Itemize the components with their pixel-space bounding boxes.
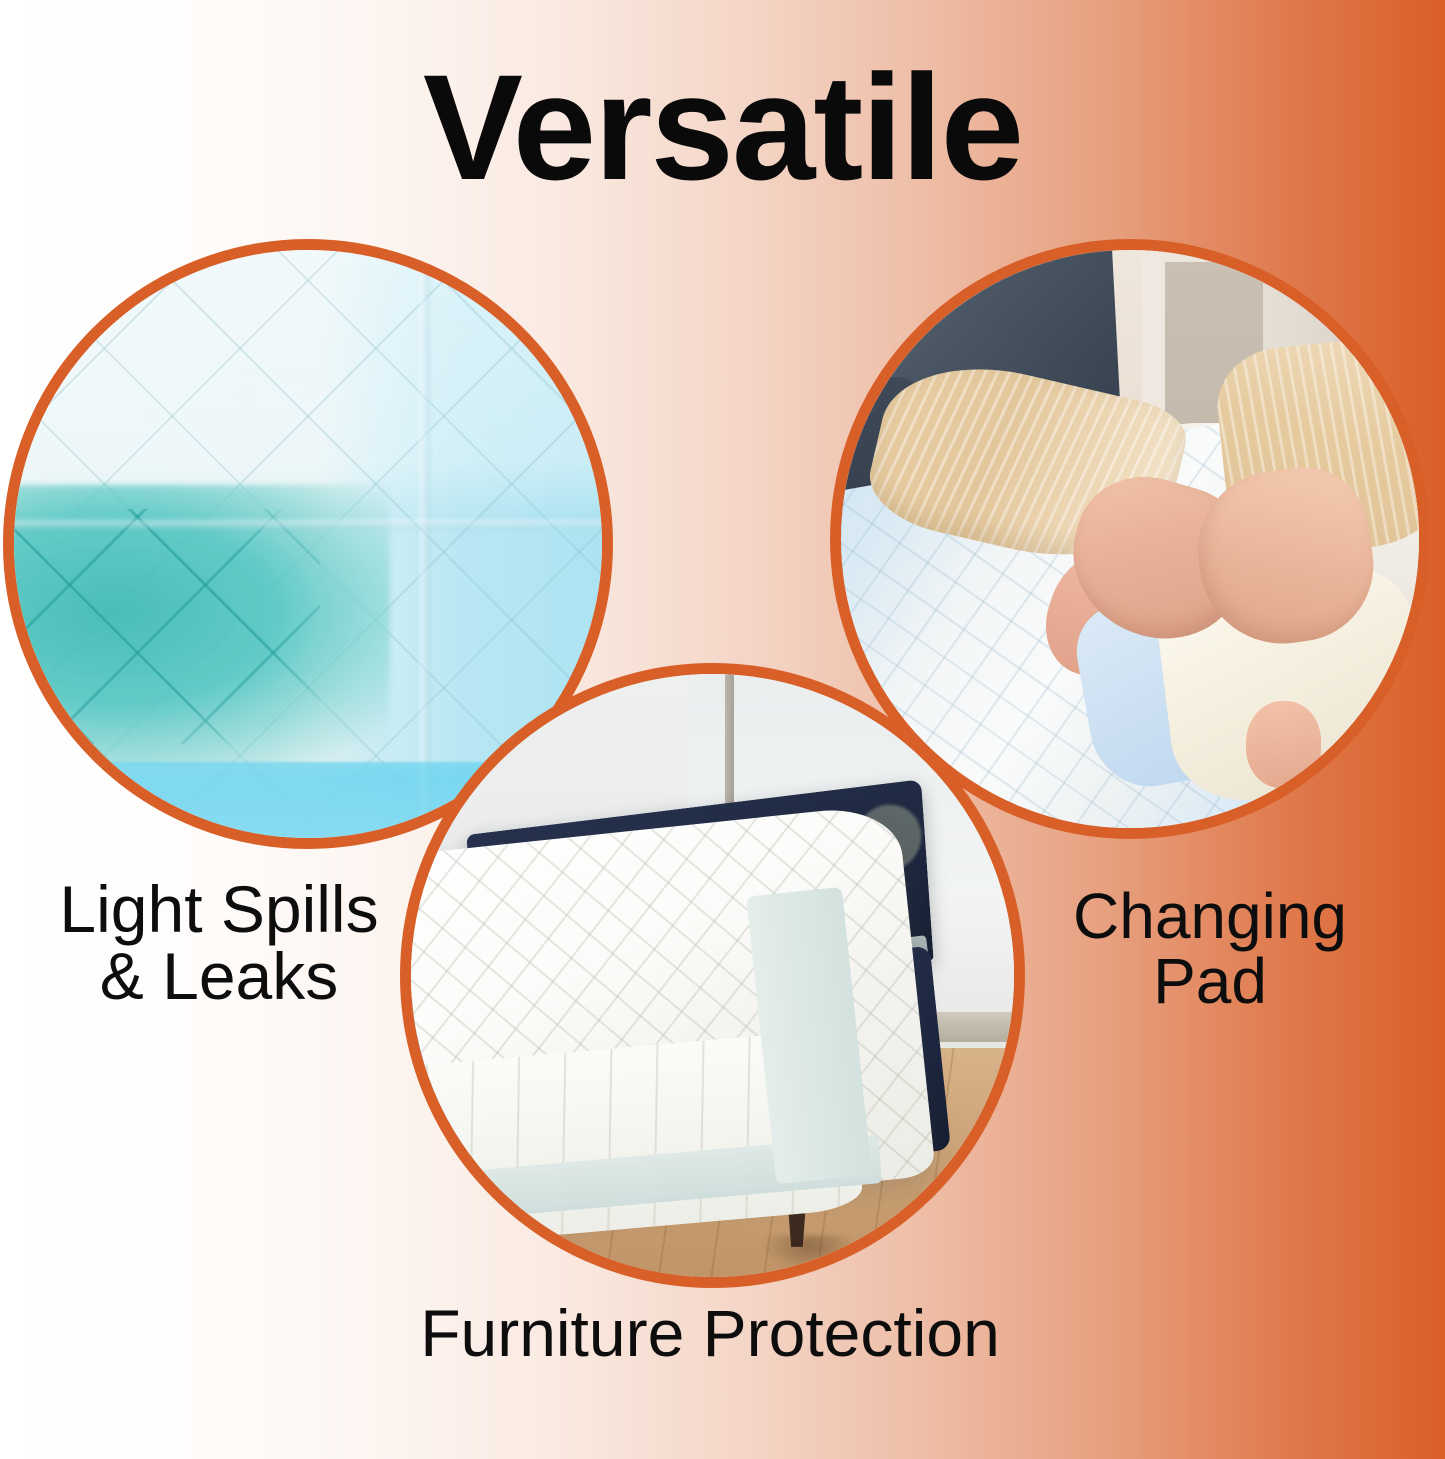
photo-chair-with-pad (411, 674, 1014, 1277)
chair-leg-shadow (761, 1235, 857, 1271)
feature-label-furniture-protection: Furniture Protection (330, 1300, 1090, 1367)
page-title: Versatile (0, 52, 1445, 202)
baby-foot (1246, 701, 1321, 788)
versatile-feature-infographic: Versatile (0, 0, 1445, 1459)
feature-label-light-spills-and-leaks: Light Spills & Leaks (14, 876, 424, 1011)
pad-wet-quilting (14, 509, 320, 744)
feature-label-changing-pad: Changing Pad (1010, 884, 1410, 1015)
feature-image-furniture-protection (400, 663, 1025, 1288)
pad-horizontal-fold (14, 520, 602, 529)
